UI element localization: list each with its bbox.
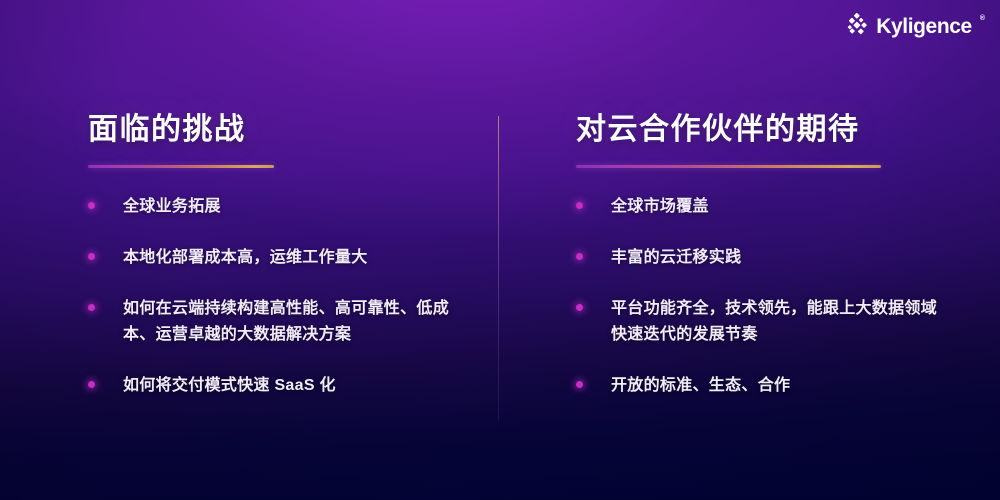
slide-canvas: Kyligence ® 面临的挑战 全球业务拓展 本地化部署成本高，运维工作量大…	[0, 0, 1000, 500]
bullet-dot-icon	[88, 202, 95, 209]
list-item: 如何将交付模式快速 SaaS 化	[88, 373, 478, 399]
bullet-text: 开放的标准、生态、合作	[611, 373, 790, 399]
bullet-dot-icon	[88, 253, 95, 260]
registered-trademark-mark: ®	[980, 15, 985, 22]
list-item: 全球业务拓展	[88, 194, 478, 220]
bullet-text: 如何将交付模式快速 SaaS 化	[123, 373, 336, 399]
list-item: 本地化部署成本高，运维工作量大	[88, 245, 478, 271]
list-item: 全球市场覆盖	[576, 194, 946, 220]
bullet-dot-icon	[576, 202, 583, 209]
bullet-dot-icon	[88, 304, 95, 311]
bullet-text: 本地化部署成本高，运维工作量大	[123, 245, 368, 271]
title-underline-rule-right	[576, 165, 881, 168]
bullet-list-expectations: 全球市场覆盖 丰富的云迁移实践 平台功能齐全，技术领先，能跟上大数据领域快速迭代…	[576, 194, 946, 399]
bullet-text: 丰富的云迁移实践	[611, 245, 741, 271]
title-underline-rule-left	[88, 165, 274, 168]
bullet-text: 全球业务拓展	[123, 194, 221, 220]
list-item: 丰富的云迁移实践	[576, 245, 946, 271]
list-item: 开放的标准、生态、合作	[576, 373, 946, 399]
bullet-list-challenges: 全球业务拓展 本地化部署成本高，运维工作量大 如何在云端持续构建高性能、高可靠性…	[88, 194, 478, 399]
bullet-text: 平台功能齐全，技术领先，能跟上大数据领域快速迭代的发展节奏	[611, 296, 946, 348]
vertical-column-divider	[498, 116, 499, 420]
kyligence-diamond-logo-icon	[845, 13, 869, 37]
bullet-dot-icon	[576, 253, 583, 260]
column-challenges: 面临的挑战 全球业务拓展 本地化部署成本高，运维工作量大 如何在云端持续构建高性…	[88, 112, 478, 424]
bullet-dot-icon	[88, 381, 95, 388]
column-expectations: 对云合作伙伴的期待 全球市场覆盖 丰富的云迁移实践 平台功能齐全，技术领先，能跟…	[576, 112, 946, 424]
bullet-dot-icon	[576, 381, 583, 388]
column-title-challenges: 面临的挑战	[88, 112, 478, 148]
brand-logo: Kyligence ®	[845, 11, 984, 39]
logo-wordmark: Kyligence	[876, 16, 972, 37]
list-item: 如何在云端持续构建高性能、高可靠性、低成本、运营卓越的大数据解决方案	[88, 296, 478, 348]
bullet-text: 全球市场覆盖	[611, 194, 709, 220]
list-item: 平台功能齐全，技术领先，能跟上大数据领域快速迭代的发展节奏	[576, 296, 946, 348]
bullet-text: 如何在云端持续构建高性能、高可靠性、低成本、运营卓越的大数据解决方案	[123, 296, 478, 348]
bullet-dot-icon	[576, 304, 583, 311]
column-title-expectations: 对云合作伙伴的期待	[576, 112, 946, 148]
